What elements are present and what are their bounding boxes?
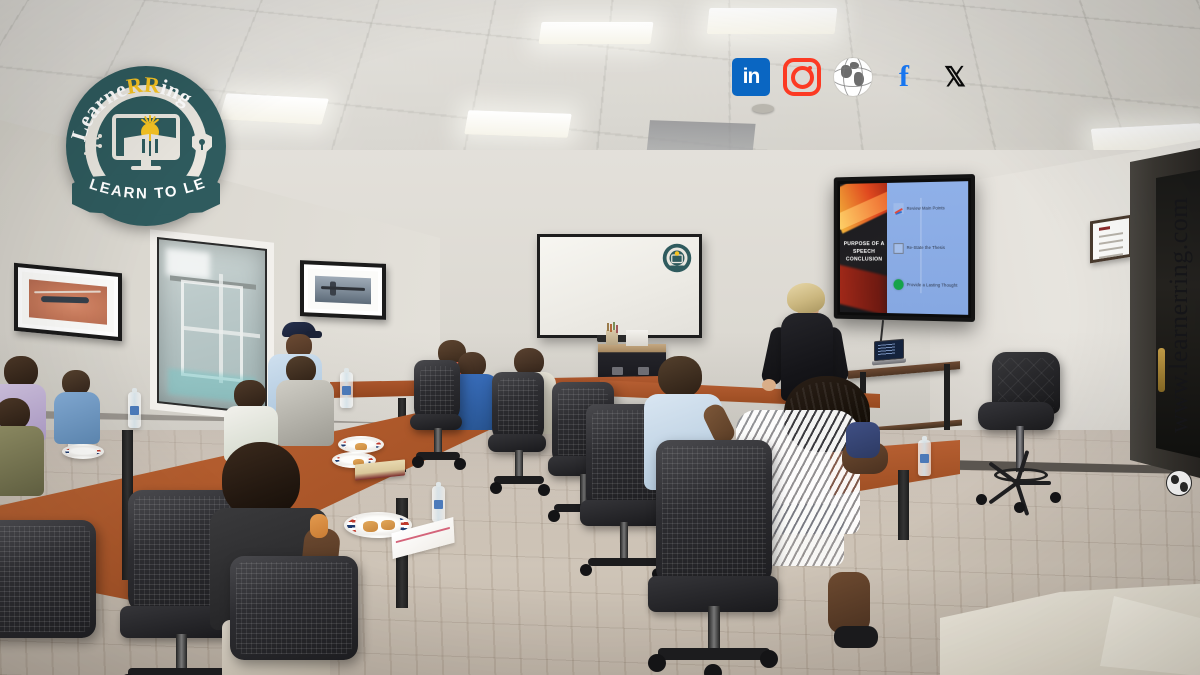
document-icon: [894, 243, 904, 254]
napkin-stripe: [396, 527, 450, 543]
logo-name-part2: RR: [125, 72, 163, 99]
caster: [454, 458, 466, 470]
chair-backrest: [492, 372, 544, 442]
presentation-slide: PURPOSE OF A SPEECH CONCLUSION Review Ma…: [840, 181, 968, 315]
framed-helicopter-photo: [14, 263, 122, 341]
smoke-detector-icon: [752, 104, 774, 113]
chair-backrest: [656, 440, 772, 590]
chart-line-icon: [894, 204, 904, 215]
base-spoke: [988, 481, 1018, 504]
globe-website-icon[interactable]: [834, 58, 872, 96]
caster: [580, 564, 592, 576]
mesh-pattern: [0, 526, 90, 632]
tissue-box: [626, 330, 648, 346]
credenza-handle: [638, 367, 649, 375]
logo-tagline-banner: LEARN TO LEAD: [72, 170, 220, 216]
leg: [828, 572, 870, 634]
water-bottle[interactable]: [340, 372, 353, 408]
mesh-pattern: [662, 446, 766, 584]
network-node-icon: [82, 132, 104, 158]
framed-certificate: [1090, 215, 1132, 264]
chair-backrest: [414, 360, 460, 422]
food-item: [310, 514, 328, 538]
office-chair[interactable]: [488, 372, 552, 508]
caster: [1050, 492, 1061, 503]
watermark-globe-icon: [1166, 470, 1192, 496]
certificate-line: [1099, 226, 1110, 231]
chair-base: [128, 668, 234, 675]
paper-plate: [338, 436, 384, 453]
office-chair[interactable]: [0, 520, 110, 675]
head: [222, 442, 300, 518]
quilt-pattern: [998, 358, 1054, 408]
table-leg: [898, 470, 909, 540]
globe-meridian: [834, 67, 872, 87]
learnerring-logo: LearneRRing: [66, 66, 226, 226]
slide-bullet-text: Review Main Points: [907, 206, 945, 212]
laptop[interactable]: [872, 339, 906, 370]
chair-base: [494, 476, 544, 484]
food-item: [381, 520, 395, 530]
continent-shape: [1180, 482, 1188, 492]
window-mullion: [219, 274, 223, 384]
slide-bullet: Review Main Points: [894, 203, 963, 215]
node-link: [86, 144, 88, 154]
chair-base: [658, 648, 770, 660]
svg-text:LEARN TO LEAD: LEARN TO LEAD: [72, 170, 209, 203]
logo-tagline-arc: LEARN TO LEAD: [72, 170, 220, 216]
office-chair[interactable]: [648, 440, 784, 670]
paper-plate: [62, 444, 104, 459]
credenza-handle: [612, 367, 623, 375]
certificate-line: [1099, 239, 1123, 245]
chair-gas-cylinder: [434, 428, 442, 454]
facebook-icon[interactable]: f: [885, 58, 923, 96]
ceiling-light-panel: [538, 22, 653, 44]
framed-aircraft-photo: [300, 260, 386, 320]
ceiling-light-panel: [219, 93, 329, 124]
food-item: [355, 443, 367, 451]
logo-name-part3: ing: [158, 74, 197, 110]
office-chair[interactable]: [410, 360, 466, 480]
wall-mounted-television[interactable]: PURPOSE OF A SPEECH CONCLUSION Review Ma…: [834, 174, 975, 322]
caster: [548, 510, 560, 522]
laptop-screen: [874, 339, 904, 362]
mesh-pattern: [236, 562, 352, 654]
linkedin-icon[interactable]: in: [732, 58, 770, 96]
monitor-book-sun-icon: [112, 114, 180, 170]
torso: [276, 380, 334, 446]
slide-graphic-streak: [840, 264, 887, 313]
instagram-icon[interactable]: [783, 58, 821, 96]
certificate-line: [1099, 253, 1123, 259]
caster: [1014, 502, 1025, 513]
website-url-text: www.learnerring.com: [1164, 197, 1194, 433]
water-bottle[interactable]: [128, 392, 141, 428]
office-chair[interactable]: [222, 556, 372, 675]
node-link: [86, 137, 99, 140]
water-bottle[interactable]: [918, 440, 931, 476]
certificate-line: [1099, 232, 1123, 238]
pencil-cup: [606, 330, 618, 345]
caster: [760, 650, 778, 668]
presenter-hair: [787, 283, 825, 313]
shoe: [834, 626, 878, 648]
base-spoke: [1017, 481, 1051, 485]
mesh-pattern: [498, 378, 538, 436]
x-twitter-icon[interactable]: 𝕏: [936, 58, 974, 96]
head: [658, 356, 702, 398]
continent-shape: [1171, 475, 1179, 484]
food-item: [363, 521, 378, 532]
slide-body-panel: Review Main Points Re-State the Thesis P…: [887, 181, 968, 315]
aircraft-image: [315, 276, 371, 304]
slide-bullet-text: Re-State the Thesis: [907, 246, 945, 251]
social-icons-bar: in f 𝕏: [732, 58, 974, 96]
certificate-line: [1099, 246, 1123, 252]
caster: [412, 456, 424, 468]
ceiling-light-panel: [707, 8, 838, 34]
whiteboard-logo-decal: [662, 243, 692, 273]
chair-base: [984, 478, 1058, 498]
mesh-pattern: [420, 366, 454, 416]
slide-title-panel: PURPOSE OF A SPEECH CONCLUSION: [840, 183, 887, 313]
classroom-photo-scene: PURPOSE OF A SPEECH CONCLUSION Review Ma…: [0, 0, 1200, 675]
caster: [976, 494, 987, 505]
green-dot-icon: [894, 279, 904, 290]
torso: [54, 392, 100, 444]
open-book-icon: [124, 134, 176, 158]
slide-title: PURPOSE OF A SPEECH CONCLUSION: [843, 240, 886, 264]
slide-bullet-text: Provide a Lasting Thought: [907, 282, 958, 288]
chair-backrest: [0, 520, 96, 638]
website-watermark: www.learnerring.com: [1164, 150, 1194, 480]
storage-credenza: [598, 344, 666, 380]
slide-bullet: Provide a Lasting Thought: [894, 279, 963, 291]
whiteboard[interactable]: [537, 234, 702, 338]
caster: [648, 654, 666, 672]
presenter-hand: [762, 379, 776, 391]
caster: [490, 482, 502, 494]
caster: [704, 664, 722, 675]
ceiling-light-panel: [464, 110, 572, 138]
slide-bullet: Re-State the Thesis: [894, 243, 963, 254]
book-spine: [142, 139, 158, 153]
water-bottle[interactable]: [432, 486, 445, 522]
backpack-or-shirt: [846, 422, 880, 458]
chair-backrest: [230, 556, 358, 660]
black-quilted-drafting-chair[interactable]: [972, 352, 1064, 502]
helicopter-image: [29, 279, 107, 325]
monitor-frame: [112, 114, 180, 160]
torso: [0, 426, 44, 496]
